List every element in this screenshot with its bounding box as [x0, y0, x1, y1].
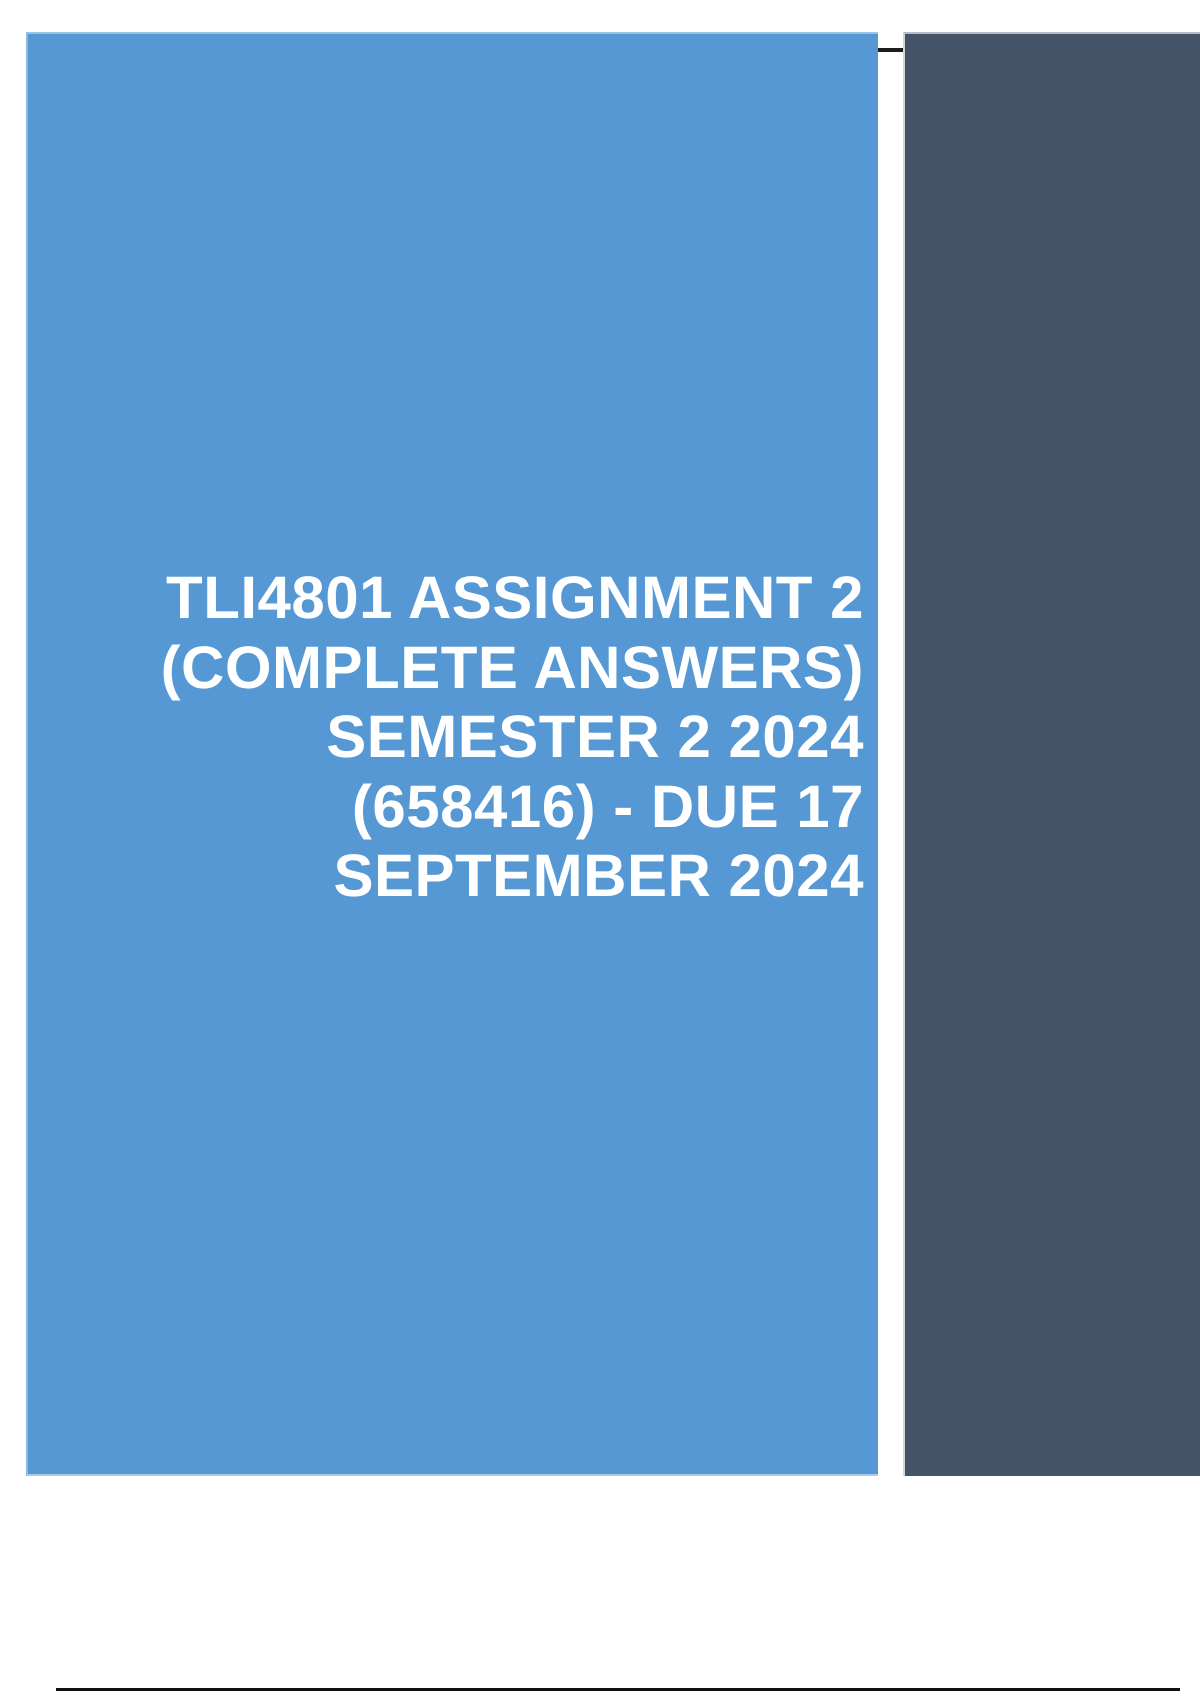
bottom-divider-rule — [56, 1688, 1180, 1691]
accent-side-panel — [903, 32, 1200, 1476]
document-page: TLI4801 ASSIGNMENT 2 (COMPLETE ANSWERS) … — [0, 0, 1200, 1700]
panel-connector-rule — [878, 48, 906, 52]
page-title: TLI4801 ASSIGNMENT 2 (COMPLETE ANSWERS) … — [28, 563, 878, 911]
cover-title-panel: TLI4801 ASSIGNMENT 2 (COMPLETE ANSWERS) … — [26, 32, 878, 1476]
